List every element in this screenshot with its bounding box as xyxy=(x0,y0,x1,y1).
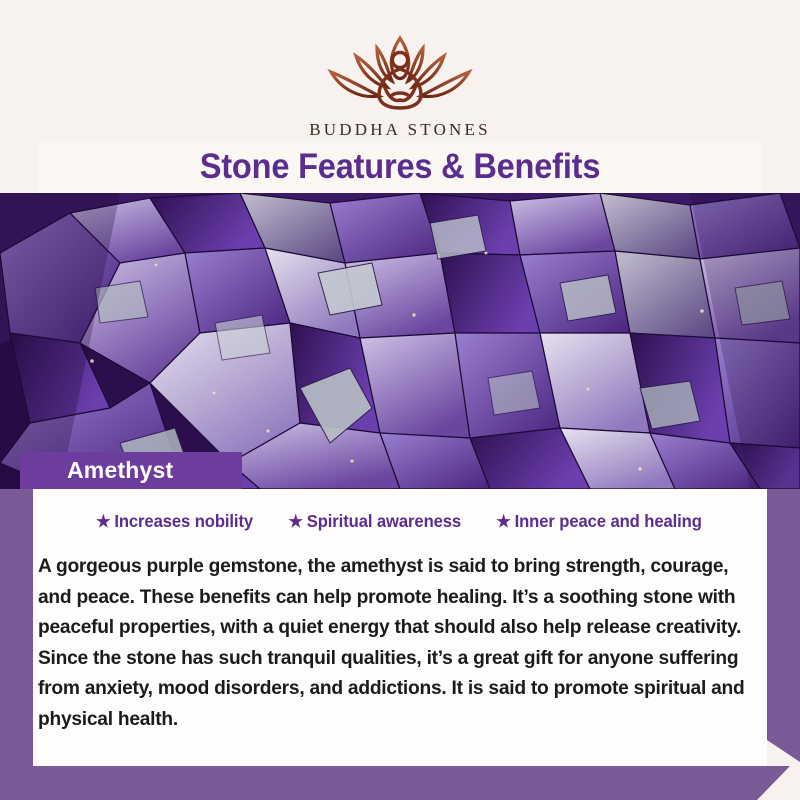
frame-band-left xyxy=(0,489,33,800)
stone-name-banner: Amethyst xyxy=(20,452,242,489)
page-title: Stone Features & Benefits xyxy=(63,141,736,193)
title-plate: Stone Features & Benefits xyxy=(38,141,762,193)
amethyst-photo xyxy=(0,193,800,489)
stone-name-label: Amethyst xyxy=(20,452,242,489)
lotus-meditation-icon xyxy=(315,26,485,118)
benefit-item: ★ Increases nobility xyxy=(97,511,254,532)
benefits-row: ★ Increases nobility ★ Spiritual awarene… xyxy=(33,511,767,532)
benefit-label: Spiritual awareness xyxy=(306,511,460,532)
header: BUDDHA STONES Stone Features & Benefits xyxy=(0,0,800,193)
content-panel: ★ Increases nobility ★ Spiritual awarene… xyxy=(33,489,767,766)
product-infographic: BUDDHA STONES Stone Features & Benefits xyxy=(0,0,800,800)
star-icon: ★ xyxy=(97,513,111,530)
benefit-item: ★ Spiritual awareness xyxy=(288,511,461,532)
brand-name: BUDDHA STONES xyxy=(0,120,800,140)
frame-band-bottom xyxy=(0,766,790,800)
brand-logo: BUDDHA STONES xyxy=(0,26,800,140)
benefit-label: Increases nobility xyxy=(115,511,254,532)
benefit-item: ★ Inner peace and healing xyxy=(497,511,702,532)
benefit-label: Inner peace and healing xyxy=(515,511,702,532)
star-icon: ★ xyxy=(497,513,511,530)
amethyst-crystal-cluster-illustration xyxy=(0,193,800,489)
stone-description: A gorgeous purple gemstone, the amethyst… xyxy=(38,552,762,735)
star-icon: ★ xyxy=(288,513,302,530)
